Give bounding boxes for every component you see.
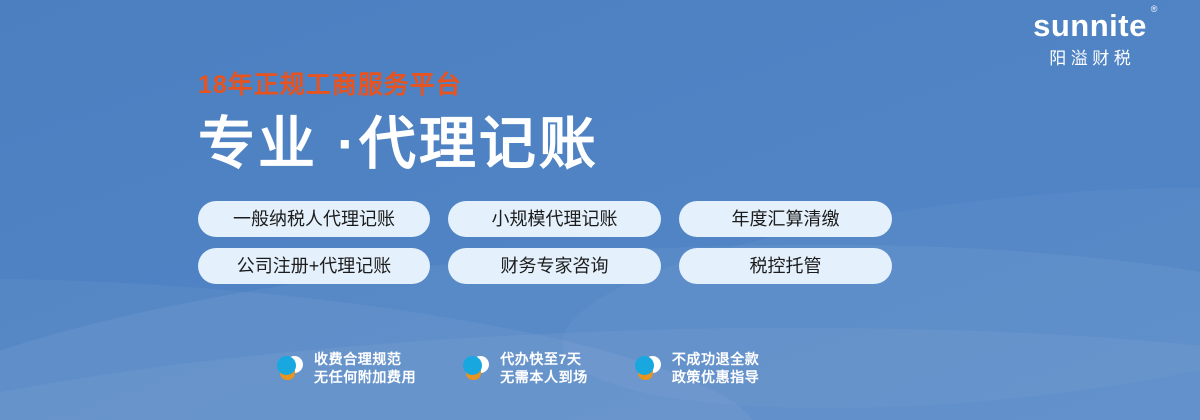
hero-text-block: 18年正规工商服务平台 专业 ·代理记账: [198, 70, 599, 176]
feature-highlight-strip: 收费合理规范 无任何附加费用 代办快至7天 无需本人到场 不成功退全款: [275, 350, 804, 386]
feature-line-2: 无需本人到场: [500, 368, 588, 386]
hero-eyebrow: 18年正规工商服务平台: [198, 70, 599, 100]
promo-banner: sunnite ® 阳溢财税 18年正规工商服务平台 专业 ·代理记账 一般纳税…: [0, 0, 1200, 420]
service-pill-general-taxpayer-bookkeeping[interactable]: 一般纳税人代理记账: [198, 201, 430, 237]
coin-circle-icon: [461, 352, 491, 384]
feature-item-text: 收费合理规范 无任何附加费用: [314, 350, 416, 386]
coin-circle-icon-disc: [277, 356, 296, 375]
feature-line-1: 收费合理规范: [314, 350, 416, 368]
logo-wordmark-label: sunnite: [1033, 8, 1147, 43]
feature-item-text: 代办快至7天 无需本人到场: [500, 350, 588, 386]
feature-item-pricing: 收费合理规范 无任何附加费用: [275, 350, 416, 386]
brand-logo[interactable]: sunnite ® 阳溢财税: [1004, 8, 1176, 69]
service-pill-annual-tax-settlement[interactable]: 年度汇算清缴: [679, 201, 892, 237]
feature-line-1: 代办快至7天: [500, 350, 588, 368]
service-pill-row: 公司注册+代理记账 财务专家咨询 税控托管: [198, 248, 910, 284]
feature-line-2: 政策优惠指导: [672, 368, 760, 386]
service-pill-finance-expert-consulting[interactable]: 财务专家咨询: [448, 248, 661, 284]
feature-line-2: 无任何附加费用: [314, 368, 416, 386]
coin-circle-icon-disc: [635, 356, 654, 375]
hero-headline: 专业 ·代理记账: [198, 112, 599, 176]
service-pill-row: 一般纳税人代理记账 小规模代理记账 年度汇算清缴: [198, 201, 910, 237]
service-pill-grid: 一般纳税人代理记账 小规模代理记账 年度汇算清缴 公司注册+代理记账 财务专家咨…: [198, 201, 910, 295]
coin-circle-icon: [275, 352, 305, 384]
coin-circle-icon: [633, 352, 663, 384]
logo-chinese-name: 阳溢财税: [1004, 49, 1176, 69]
feature-line-1: 不成功退全款: [672, 350, 760, 368]
service-pill-small-scale-bookkeeping[interactable]: 小规模代理记账: [448, 201, 661, 237]
service-pill-tax-control-hosting[interactable]: 税控托管: [679, 248, 892, 284]
feature-item-guarantee: 不成功退全款 政策优惠指导: [633, 350, 760, 386]
feature-item-speed: 代办快至7天 无需本人到场: [461, 350, 588, 386]
registered-trademark-icon: ®: [1151, 5, 1158, 14]
feature-item-text: 不成功退全款 政策优惠指导: [672, 350, 760, 386]
logo-wordmark-text: sunnite ®: [1033, 8, 1147, 44]
service-pill-company-registration-bookkeeping[interactable]: 公司注册+代理记账: [198, 248, 430, 284]
